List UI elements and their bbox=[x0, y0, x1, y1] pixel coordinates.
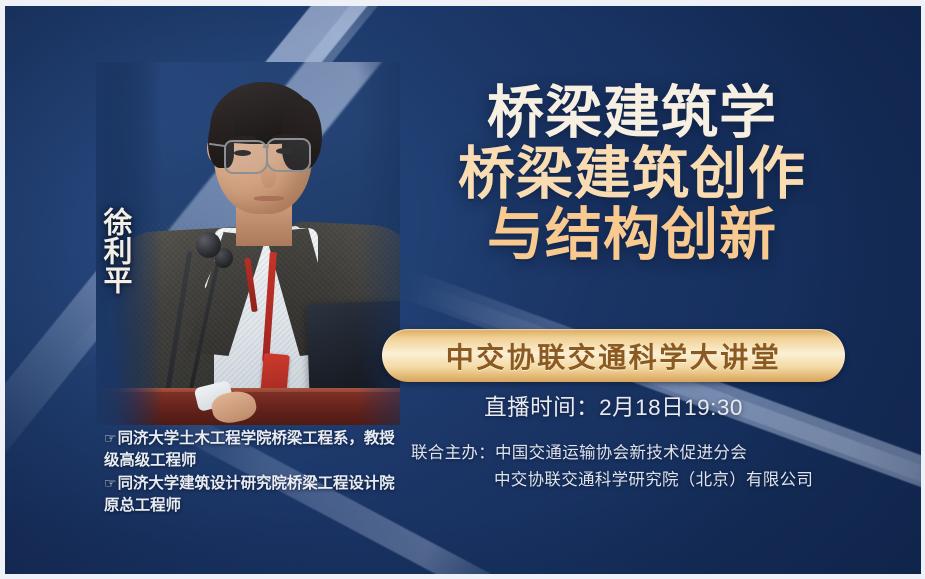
broadcast-time: 直播时间：2月18日19:30 bbox=[382, 390, 845, 422]
credential-line-2: ☞同济大学建筑设计研究院桥梁工程设计院原总工程师 bbox=[104, 473, 404, 518]
photo-canvas bbox=[96, 62, 400, 425]
organizers-label: 联合主办： bbox=[411, 440, 495, 467]
title-line-2: 桥梁建筑创作 bbox=[382, 147, 882, 203]
speaker-photo bbox=[96, 62, 400, 425]
organizer-name-2: 中交协联交通科学研究院（北京）有限公司 bbox=[494, 471, 813, 489]
credential-text-1: 同济大学土木工程学院桥梁工程系，教授级高级工程师 bbox=[104, 430, 395, 469]
title-line-3: 与结构创新 bbox=[382, 208, 882, 264]
title-line-1: 桥梁建筑学 bbox=[382, 86, 882, 142]
organizer-row-1: 联合主办：中国交通运输协会新技术促进分会 bbox=[411, 440, 813, 467]
pointing-hand-icon: ☞ bbox=[104, 475, 117, 491]
organizer-row-2: 中交协联交通科学研究院（北京）有限公司 bbox=[411, 467, 813, 494]
organizers-block: 联合主办：中国交通运输协会新技术促进分会 中交协联交通科学研究院（北京）有限公司 bbox=[411, 440, 813, 493]
speaker-name: 徐利平 bbox=[88, 198, 130, 302]
frame-edge-left bbox=[0, 0, 5, 579]
speaker-credentials: ☞同济大学土木工程学院桥梁工程系，教授级高级工程师 ☞同济大学建筑设计研究院桥梁… bbox=[104, 428, 404, 518]
pointing-hand-icon: ☞ bbox=[104, 430, 117, 446]
frame-edge-top bbox=[0, 0, 925, 6]
poster-canvas: 徐利平 ☞同济大学土木工程学院桥梁工程系，教授级高级工程师 ☞同济大学建筑设计研… bbox=[0, 0, 925, 579]
frame-edge-bottom bbox=[0, 574, 925, 579]
frame-edge-right bbox=[921, 0, 925, 579]
photo-shading bbox=[96, 62, 400, 425]
series-badge-label: 中交协联交通科学大讲堂 bbox=[446, 336, 782, 376]
organizer-name-1: 中国交通运输协会新技术促进分会 bbox=[495, 444, 747, 462]
credential-text-2: 同济大学建筑设计研究院桥梁工程设计院原总工程师 bbox=[104, 475, 395, 514]
credential-line-1: ☞同济大学土木工程学院桥梁工程系，教授级高级工程师 bbox=[104, 428, 404, 473]
series-badge: 中交协联交通科学大讲堂 bbox=[382, 329, 845, 382]
title-block: 桥梁建筑学 桥梁建筑创作 与结构创新 bbox=[382, 86, 882, 264]
